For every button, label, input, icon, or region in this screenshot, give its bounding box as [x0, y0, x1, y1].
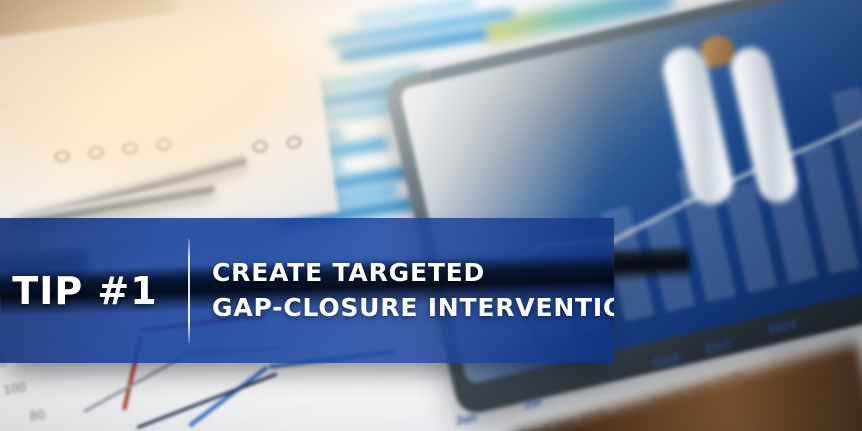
banner-headline: CREATE TARGETED GAP-CLOSURE INTERVENTION…: [190, 260, 614, 322]
background-photo: 140 120 100 80 Sep Oct Nov Jun Jul Fisca…: [0, 0, 862, 431]
headline-line-1: CREATE TARGETED: [212, 260, 614, 286]
banner-content: TIP #1 CREATE TARGETED GAP-CLOSURE INTER…: [0, 218, 614, 363]
line-chart-y-tick: 100: [2, 379, 27, 397]
warm-light-bloom: [0, 0, 431, 233]
line-chart-navy-series: [136, 373, 277, 430]
headline-line-2: GAP-CLOSURE INTERVENTIONS: [212, 295, 614, 321]
promo-banner-image: 140 120 100 80 Sep Oct Nov Jun Jul Fisca…: [0, 0, 862, 431]
tip-number-label: TIP #1: [12, 269, 157, 313]
tip-number-block: TIP #1: [0, 269, 188, 313]
line-chart-blue-series: [188, 365, 269, 427]
tip-banner: TIP #1 CREATE TARGETED GAP-CLOSURE INTER…: [0, 218, 614, 363]
line-chart-y-tick: 80: [29, 406, 47, 423]
